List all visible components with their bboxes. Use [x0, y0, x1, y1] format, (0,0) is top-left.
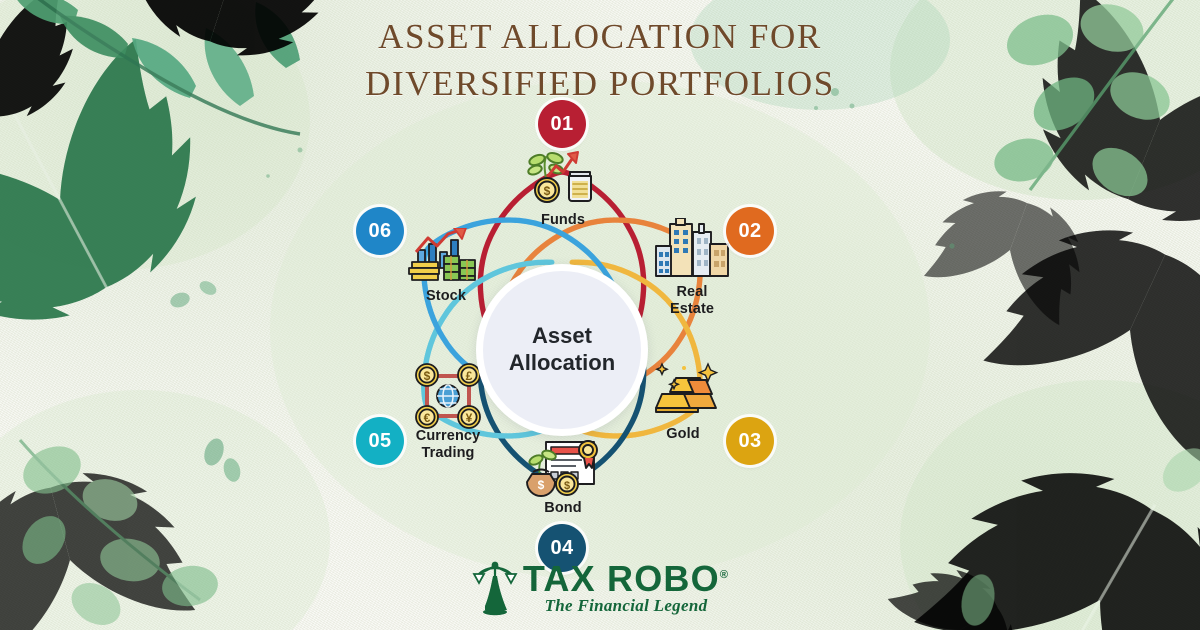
title-line-2: Diversified Portfolios	[0, 61, 1200, 108]
title-line-1: Asset Allocation For	[0, 14, 1200, 61]
stock-chart-icon	[404, 228, 488, 284]
city-buildings-icon	[652, 218, 732, 280]
brand-tagline: The Financial Legend	[545, 596, 708, 616]
svg-text:£: £	[466, 369, 473, 383]
svg-text:$: $	[538, 478, 545, 492]
step-badge-05[interactable]: 05	[356, 417, 404, 465]
currency-globe-icon: $£ €¥	[410, 360, 486, 432]
center-hub: Asset Allocation	[476, 264, 648, 436]
brand-wordmark: TAX ROBO® The Financial Legend	[523, 561, 729, 616]
svg-text:¥: ¥	[466, 411, 473, 425]
svg-text:$: $	[424, 369, 431, 383]
svg-text:$: $	[544, 184, 551, 198]
step-badge-01[interactable]: 01	[538, 100, 586, 148]
funds-growth-icon: $	[522, 148, 604, 206]
registered-trademark-icon: ®	[720, 569, 729, 581]
svg-text:€: €	[424, 411, 431, 425]
step-badge-03[interactable]: 03	[726, 417, 774, 465]
asset-allocation-diagram: $ Funds	[300, 88, 900, 568]
svg-text:$: $	[564, 480, 570, 492]
step-badge-06[interactable]: 06	[356, 207, 404, 255]
brand-name: TAX ROBO®	[523, 561, 729, 597]
step-badge-02[interactable]: 02	[726, 207, 774, 255]
scales-of-justice-icon	[471, 560, 519, 616]
gold-bars-icon	[640, 360, 726, 422]
page-title: Asset Allocation For Diversified Portfol…	[0, 14, 1200, 107]
infographic-canvas: Asset Allocation For Diversified Portfol…	[0, 0, 1200, 630]
brand-logo: TAX ROBO® The Financial Legend	[0, 560, 1200, 616]
center-hub-label: Asset Allocation	[509, 323, 615, 377]
bond-certificate-icon: $ $	[520, 436, 606, 498]
